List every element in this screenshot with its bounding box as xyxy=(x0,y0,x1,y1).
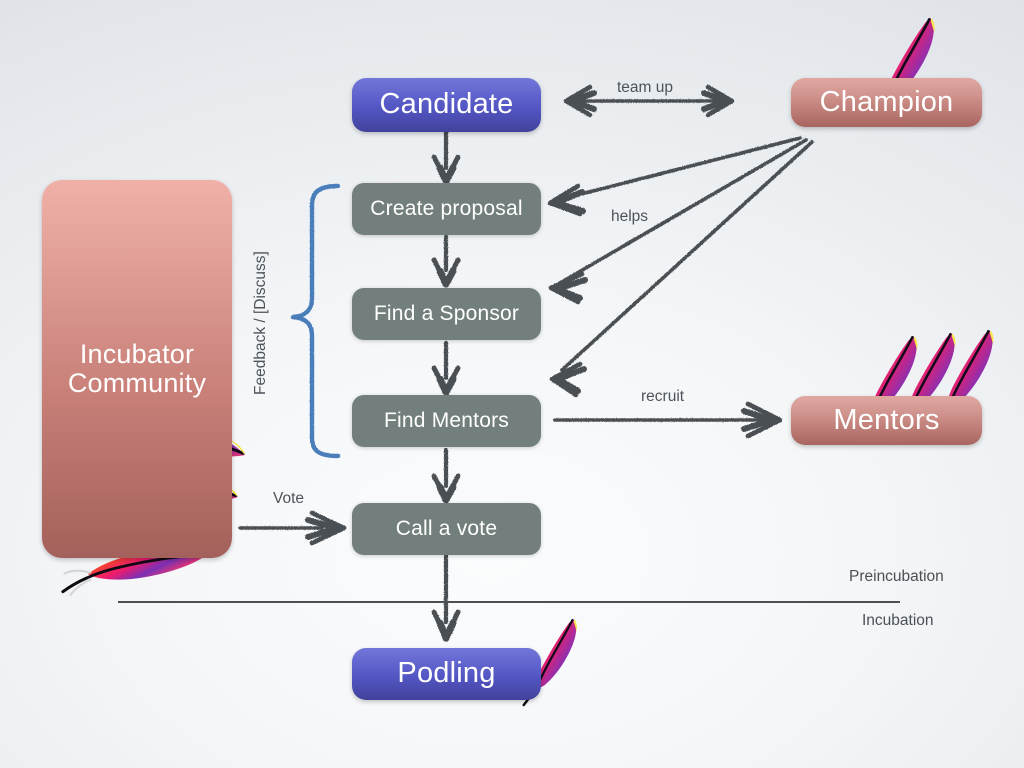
arrow-champion-to-find-mentors xyxy=(552,142,812,395)
arrow-find-mentors-to-mentors xyxy=(555,404,780,436)
arrow-find-sponsor-to-find-mentors xyxy=(434,343,458,392)
node-incubator-community-label-line1: Incubator xyxy=(80,340,194,369)
node-podling[interactable]: Podling xyxy=(352,648,541,700)
node-podling-label: Podling xyxy=(397,658,495,689)
node-call-a-vote-label: Call a vote xyxy=(396,518,497,541)
arrow-community-to-call-a-vote xyxy=(240,513,344,543)
feedback-brace xyxy=(293,186,338,456)
node-find-sponsor[interactable]: Find a Sponsor xyxy=(352,288,541,340)
arrow-champion-to-create-proposal xyxy=(550,138,800,214)
arrow-find-mentors-to-call-a-vote xyxy=(434,450,458,500)
node-find-mentors-label: Find Mentors xyxy=(384,410,509,433)
arrow-candidate-to-create-proposal xyxy=(434,132,458,181)
node-create-proposal[interactable]: Create proposal xyxy=(352,183,541,235)
edge-label-recruit: recruit xyxy=(641,388,684,406)
edge-label-vote: Vote xyxy=(273,490,304,508)
edge-label-team-up: team up xyxy=(617,79,673,97)
node-create-proposal-label: Create proposal xyxy=(370,198,522,221)
node-find-sponsor-label: Find a Sponsor xyxy=(374,303,519,326)
node-champion[interactable]: Champion xyxy=(791,78,982,127)
edge-label-feedback-discuss: Feedback / [Discuss] xyxy=(252,251,270,395)
phase-label-preincubation: Preincubation xyxy=(849,568,944,586)
node-mentors[interactable]: Mentors xyxy=(791,396,982,445)
node-champion-label: Champion xyxy=(820,87,954,118)
node-find-mentors[interactable]: Find Mentors xyxy=(352,395,541,447)
node-call-a-vote[interactable]: Call a vote xyxy=(352,503,541,555)
node-mentors-label: Mentors xyxy=(833,405,939,436)
node-candidate-label: Candidate xyxy=(379,89,513,120)
diagram-canvas: Candidate Champion Mentors Incubator Com… xyxy=(0,0,1024,768)
node-incubator-community-label-line2: Community xyxy=(68,369,206,398)
phase-label-incubation: Incubation xyxy=(862,612,934,630)
node-incubator-community[interactable]: Incubator Community xyxy=(42,180,232,558)
arrow-champion-to-find-sponsor xyxy=(551,140,806,302)
edge-label-helps: helps xyxy=(611,208,648,226)
arrow-create-proposal-to-find-sponsor xyxy=(434,237,458,284)
arrow-call-a-vote-to-podling xyxy=(434,556,458,638)
node-candidate[interactable]: Candidate xyxy=(352,78,541,132)
phase-divider-line xyxy=(118,601,900,603)
